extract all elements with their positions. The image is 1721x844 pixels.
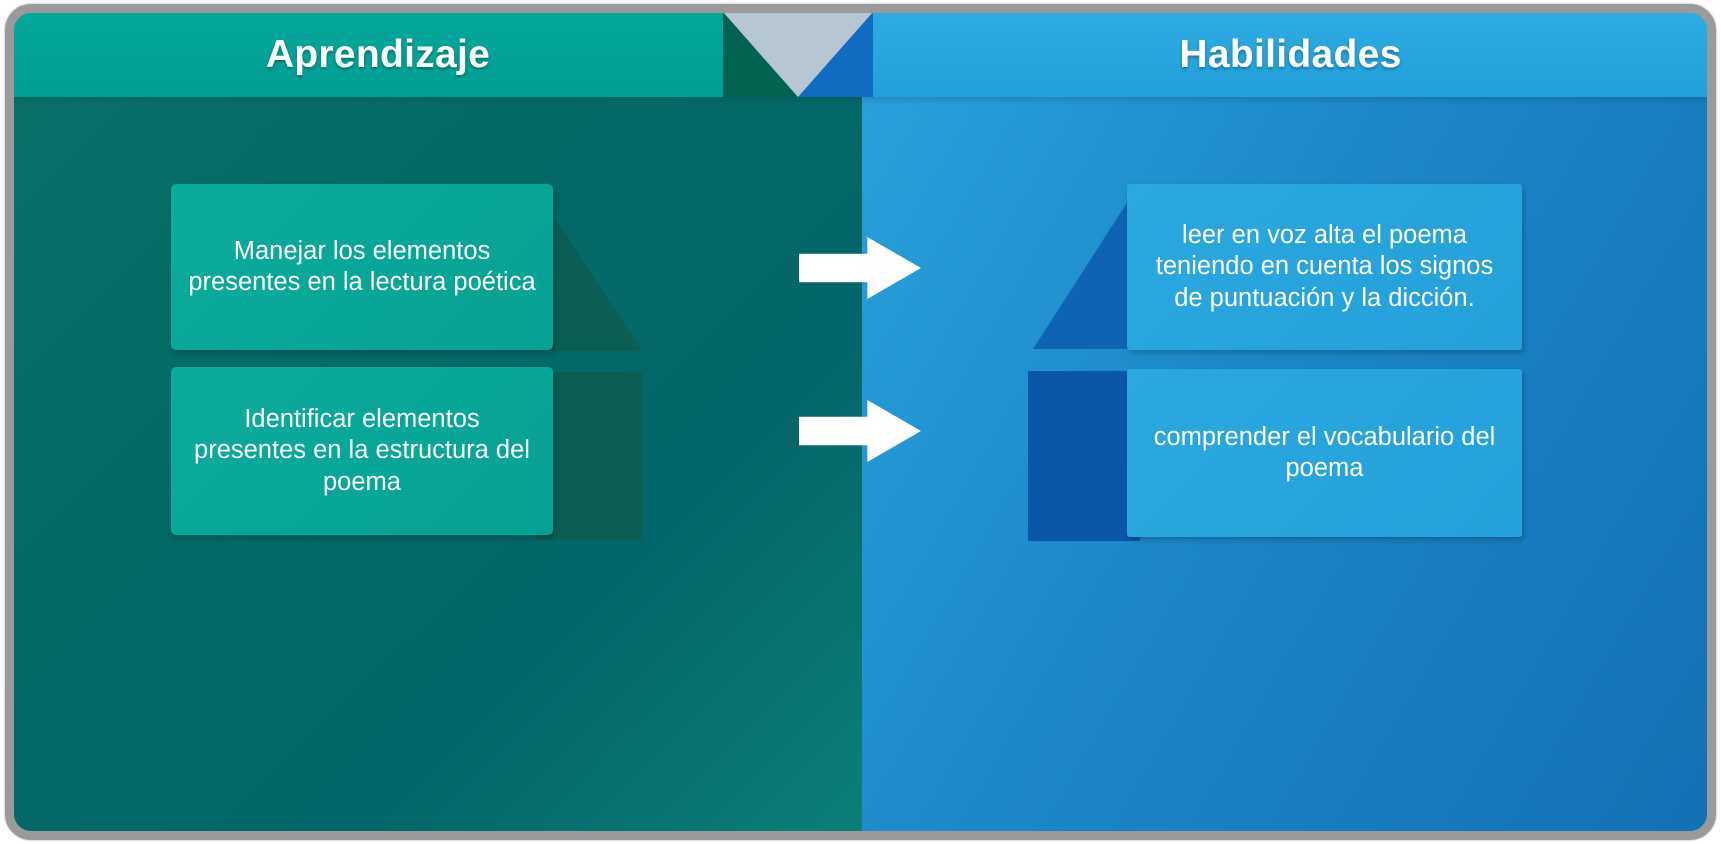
diagram-frame-border	[5, 4, 1716, 840]
diagram-canvas: Aprendizaje Habilidades Manejar los elem…	[0, 0, 1721, 844]
